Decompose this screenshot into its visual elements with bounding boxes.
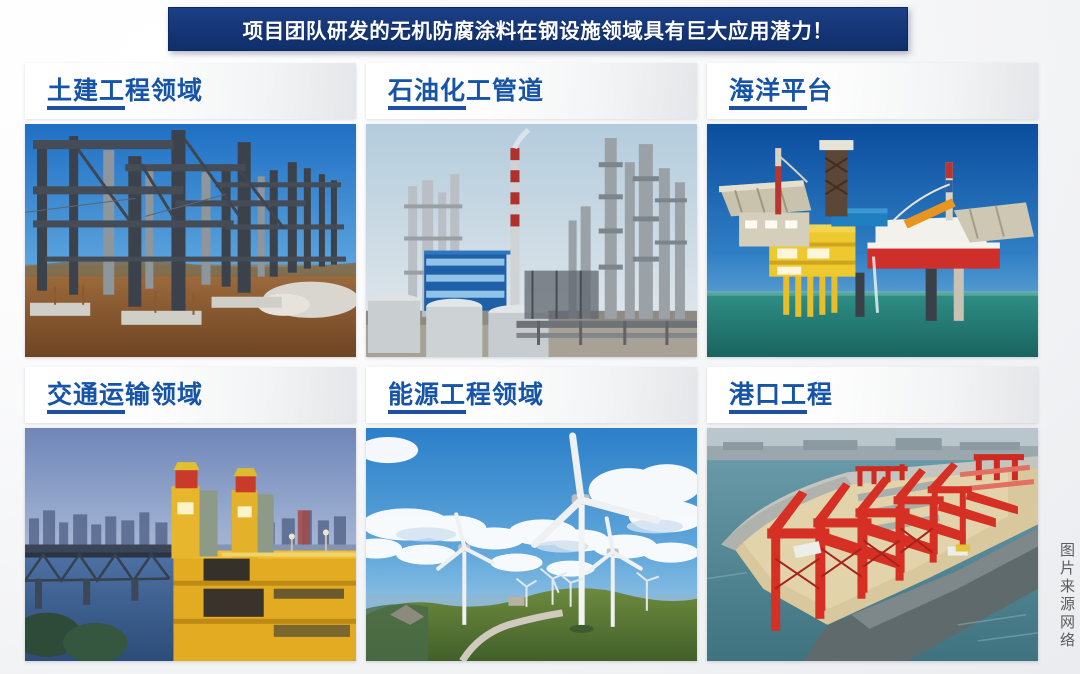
- application-fields-grid: 土建工程领域: [25, 63, 1038, 661]
- card-civil-engineering[interactable]: 土建工程领域: [25, 63, 356, 357]
- card-transportation[interactable]: 交通运输领域: [25, 367, 356, 661]
- card-header: 交通运输领域: [25, 367, 356, 423]
- card-title: 能源工程领域: [388, 383, 544, 408]
- card-header: 石油化工管道: [366, 63, 697, 119]
- image-source-credit: 图片来源网络: [1058, 542, 1074, 650]
- title-underline-rule: [729, 106, 807, 110]
- page-title: 项目团队研发的无机防腐涂料在钢设施领域具有巨大应用潜力！: [243, 14, 834, 44]
- photo-offshore-oil-drilling-platform: [707, 124, 1038, 357]
- card-port-engineering[interactable]: 港口工程: [707, 367, 1038, 661]
- page-title-banner: 项目团队研发的无机防腐涂料在钢设施领域具有巨大应用潜力！: [168, 7, 908, 51]
- photo-petrochemical-refinery-plant: [366, 124, 697, 357]
- title-underline-rule: [729, 410, 807, 414]
- title-underline-rule: [47, 410, 125, 414]
- card-header: 能源工程领域: [366, 367, 697, 423]
- card-title: 港口工程: [729, 383, 833, 408]
- title-underline-rule: [388, 410, 466, 414]
- card-offshore-platform[interactable]: 海洋平台: [707, 63, 1038, 357]
- card-header: 海洋平台: [707, 63, 1038, 119]
- card-title: 土建工程领域: [47, 79, 203, 104]
- photo-container-port-gantry-cranes: [707, 428, 1038, 661]
- photo-yangtze-river-truss-bridge: [25, 428, 356, 661]
- card-title: 交通运输领域: [47, 383, 203, 408]
- title-underline-rule: [47, 106, 125, 110]
- photo-hilltop-wind-turbine-farm: [366, 428, 697, 661]
- photo-steel-frame-construction-site: [25, 124, 356, 357]
- card-header: 土建工程领域: [25, 63, 356, 119]
- card-title: 海洋平台: [729, 79, 833, 104]
- card-header: 港口工程: [707, 367, 1038, 423]
- card-energy-engineering[interactable]: 能源工程领域: [366, 367, 697, 661]
- title-underline-rule: [388, 106, 466, 110]
- card-title: 石油化工管道: [388, 79, 544, 104]
- card-petrochemical-pipeline[interactable]: 石油化工管道: [366, 63, 697, 357]
